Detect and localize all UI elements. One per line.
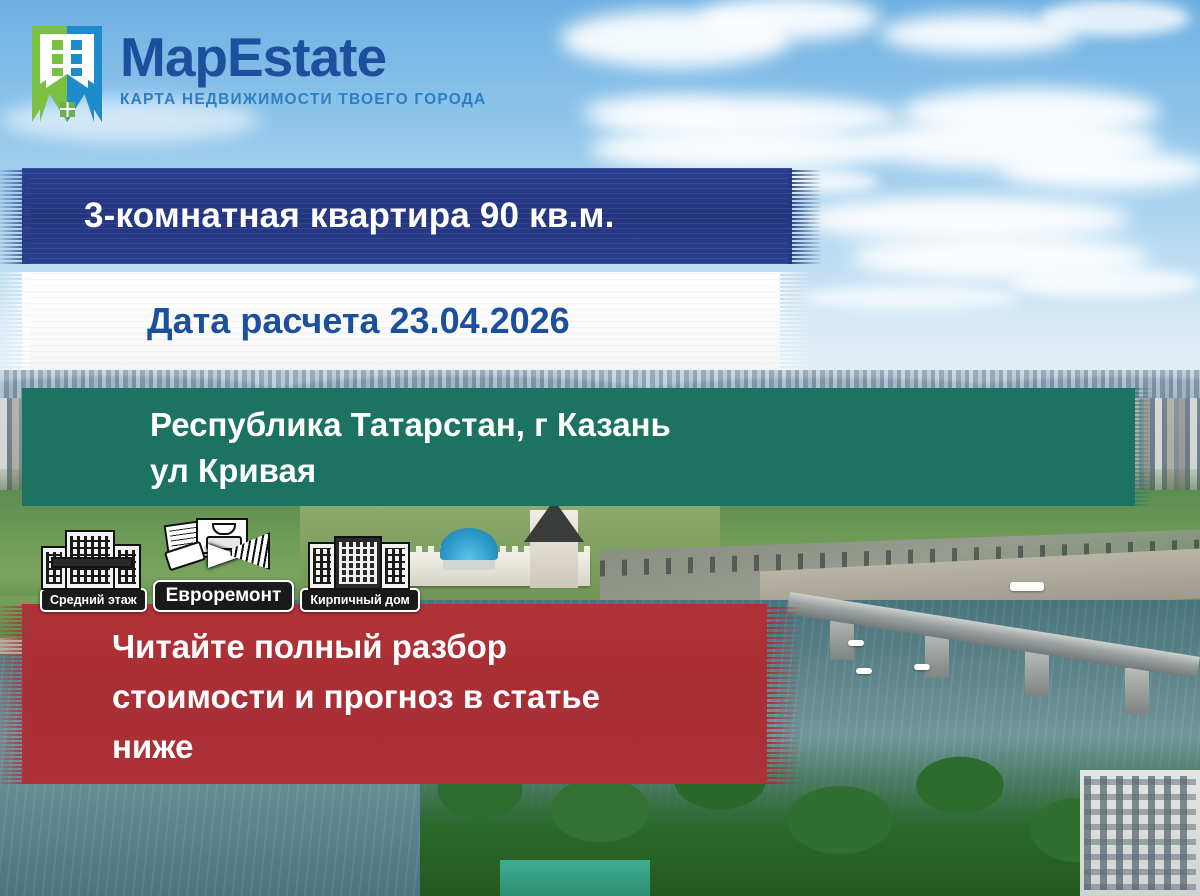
kremlin-tower-roof — [524, 500, 584, 542]
feature-badge-brick-house: Кирпичный дом — [300, 528, 419, 612]
calculation-date-text: Дата расчета 23.04.2026 — [22, 300, 570, 342]
cloud-shape — [1040, 0, 1190, 36]
brush-fringe-right — [788, 168, 822, 264]
brand-tagline: КАРТА НЕДВИЖИМОСТИ ТВОЕГО ГОРОДА — [120, 91, 486, 109]
cta-text: Читайте полный разбор стоимости и прогно… — [22, 604, 600, 772]
bookmark-building-icon — [28, 22, 106, 126]
brand-text: MapEstate КАРТА НЕДВИЖИМОСТИ ТВОЕГО ГОРО… — [120, 22, 486, 109]
promo-poster: MapEstate КАРТА НЕДВИЖИМОСТИ ТВОЕГО ГОРО… — [0, 0, 1200, 896]
building-left — [308, 542, 336, 590]
brand-logo[interactable]: MapEstate КАРТА НЕДВИЖИМОСТИ ТВОЕГО ГОРО… — [28, 22, 486, 126]
brand-name-map: Map — [120, 26, 227, 88]
renovation-tools-icon — [164, 516, 282, 582]
brand-name: MapEstate — [120, 30, 486, 85]
boat — [914, 664, 930, 670]
bridge-pier — [1125, 668, 1149, 714]
location-text: Республика Татарстан, г Казань ул Кривая — [22, 388, 671, 493]
brush-fringe-right — [778, 272, 812, 370]
building-right — [380, 542, 410, 590]
brush-fringe-right — [1119, 388, 1153, 506]
residential-tower — [1080, 770, 1200, 896]
feature-badge-mid-floor: Средний этаж — [40, 528, 147, 612]
boat — [856, 668, 872, 674]
property-title-text: 3-комнатная квартира 90 кв.м. — [22, 196, 615, 236]
feature-badge-renovation: Евроремонт — [153, 516, 295, 612]
cloud-shape — [590, 126, 890, 172]
cloud-shape — [1000, 150, 1200, 190]
feature-label: Кирпичный дом — [300, 588, 419, 612]
feature-label: Средний этаж — [40, 588, 147, 612]
brick-house-icon — [308, 528, 412, 590]
cloud-shape — [800, 196, 1130, 242]
cloud-shape — [1010, 268, 1200, 298]
mid-floor-building-icon — [41, 528, 145, 590]
brush-fringe-right — [767, 604, 801, 784]
property-title-banner: 3-комнатная квартира 90 кв.м. — [22, 168, 792, 264]
bridge-pier — [1025, 650, 1049, 696]
feature-badges: Средний этаж Евроремонт Кирпичный дом — [40, 516, 420, 612]
brand-name-estate: Estate — [227, 26, 386, 88]
building-left — [41, 546, 67, 590]
mid-floor-highlight — [51, 557, 133, 568]
location-banner: Республика Татарстан, г Казань ул Кривая — [22, 388, 1135, 506]
calculation-date-banner: Дата расчета 23.04.2026 — [22, 272, 780, 370]
bridge — [790, 592, 1200, 712]
building-center-brick — [334, 536, 382, 590]
feature-label: Евроремонт — [153, 580, 295, 612]
ferry-boat — [1010, 582, 1044, 591]
boat — [848, 640, 864, 646]
green-roof-building — [500, 860, 650, 896]
cta-banner[interactable]: Читайте полный разбор стоимости и прогно… — [22, 604, 767, 784]
